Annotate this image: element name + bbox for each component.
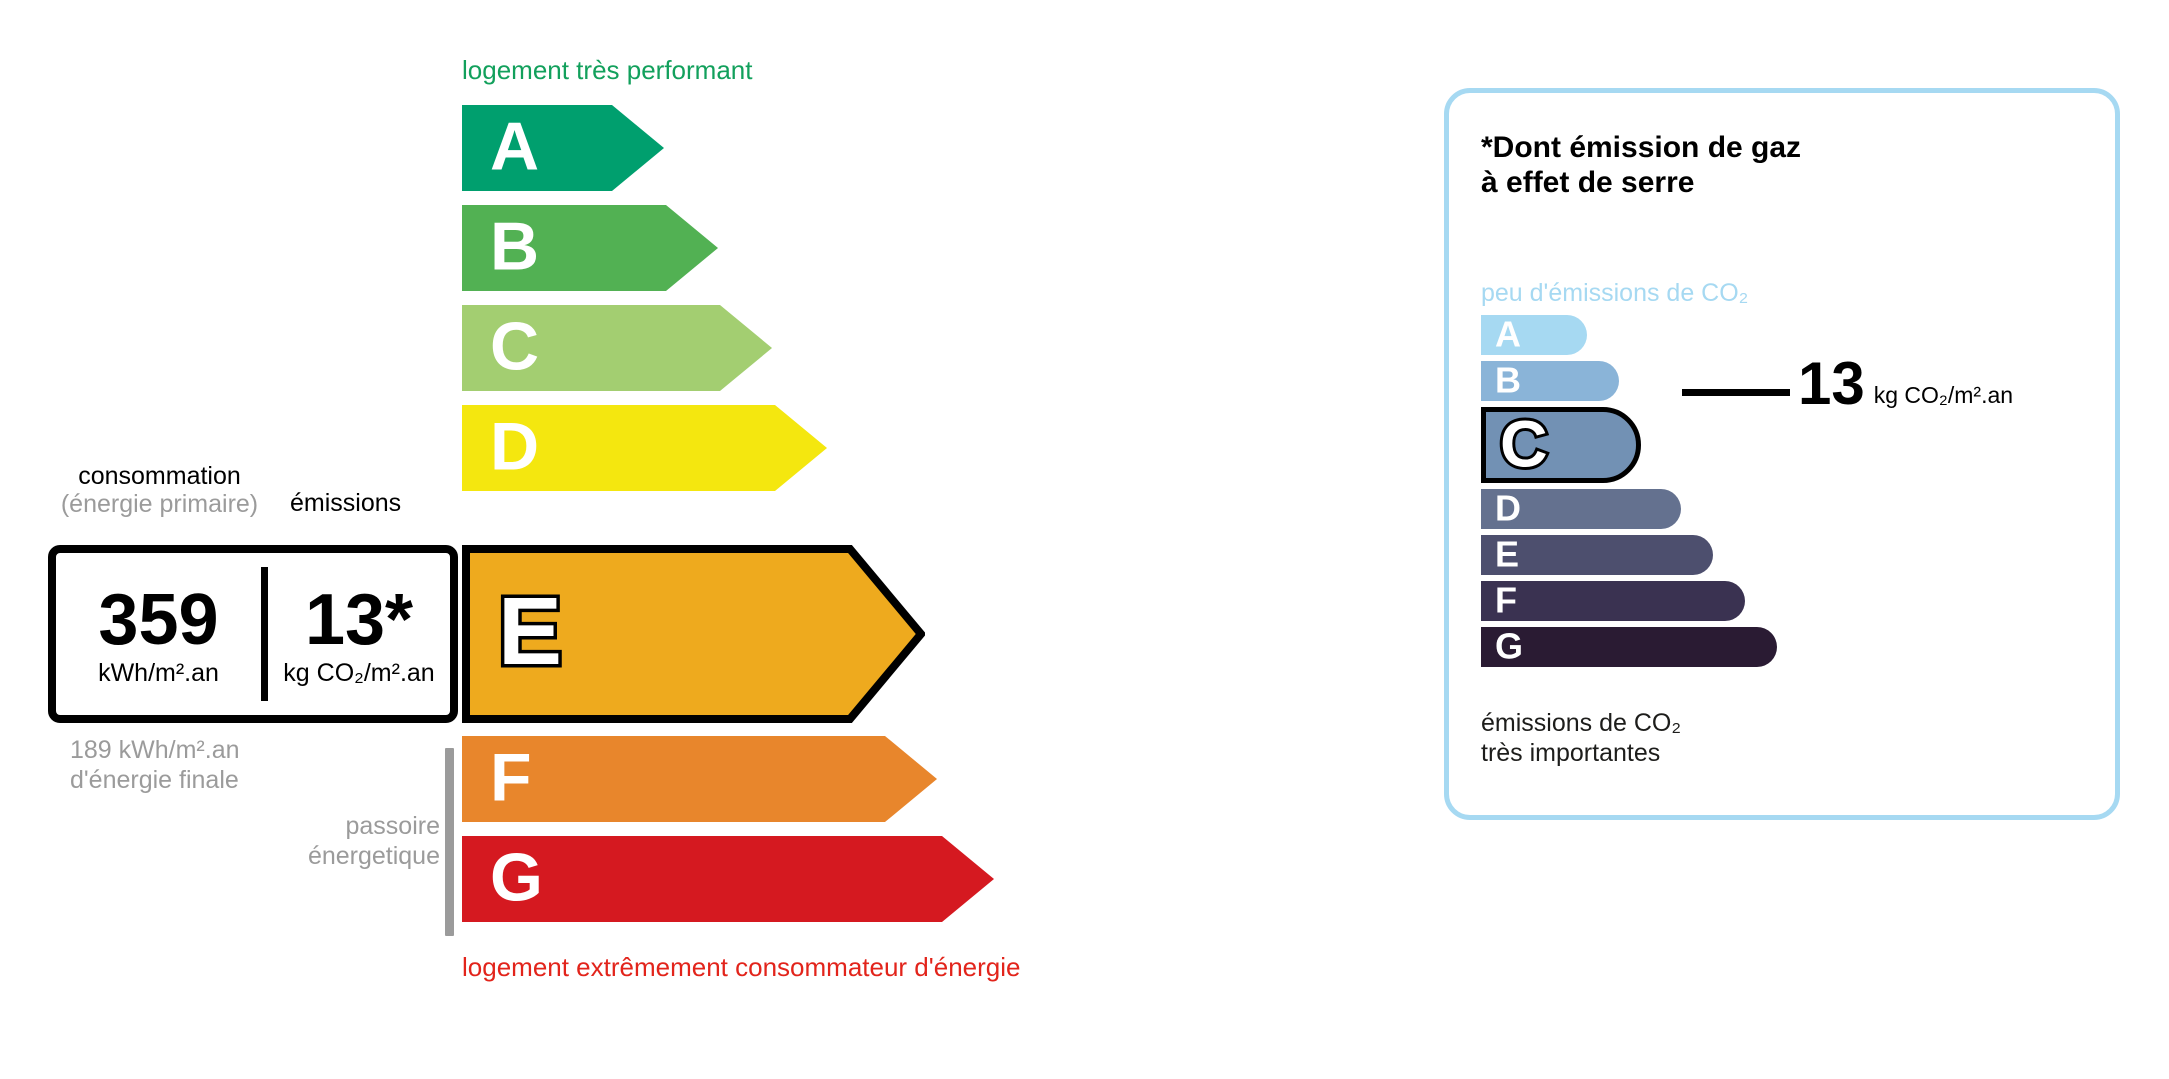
value-box-divider	[261, 567, 268, 701]
energy-performance-panel: logement très performant ABCDEFG logemen…	[0, 0, 1400, 1079]
energy-arrow-shape-d	[462, 405, 827, 491]
energy-arrow-shape-a	[462, 105, 664, 191]
co2-value: 13	[1798, 354, 1865, 414]
energy-class-d: D	[462, 405, 827, 491]
co2-class-b: B	[1481, 361, 1619, 401]
final-energy-note-line1: 189 kWh/m².an	[70, 736, 240, 766]
co2-class-letter-f: F	[1495, 582, 1517, 618]
co2-bar-shape-d: D	[1481, 489, 1681, 529]
co2-leader-line	[1682, 389, 1790, 396]
energy-class-f: F	[462, 736, 937, 822]
co2-class-a: A	[1481, 315, 1587, 355]
co2-class-letter-e: E	[1495, 536, 1519, 572]
passoire-bracket	[445, 748, 454, 936]
emissions-label: émissions	[290, 489, 401, 518]
co2-bottom-caption: émissions de CO₂ très importantes	[1481, 709, 1681, 768]
co2-title: *Dont émission de gaz à effet de serre	[1481, 131, 1801, 201]
energy-bottom-caption: logement extrêmement consommateur d'éner…	[462, 952, 1020, 983]
consumption-label-main: consommation	[78, 462, 241, 490]
co2-class-letter-d: D	[1495, 490, 1521, 526]
co2-bar-shape-b: B	[1481, 361, 1619, 401]
co2-class-letter-a: A	[1495, 316, 1521, 352]
passoire-label-line2: énergetique	[250, 842, 440, 872]
energy-arrow-shape-g	[462, 836, 994, 922]
co2-class-c: C	[1481, 407, 1641, 483]
passoire-label: passoire énergetique	[250, 812, 440, 871]
final-energy-note-line2: d'énergie finale	[70, 766, 240, 796]
co2-value-annotation: 13 kg CO₂/m².an	[1798, 354, 2013, 414]
energy-class-c: C	[462, 305, 772, 391]
energy-class-g: G	[462, 836, 994, 922]
co2-bottom-caption-line2: très importantes	[1481, 739, 1681, 769]
co2-panel: *Dont émission de gaz à effet de serre p…	[1444, 88, 2120, 820]
final-energy-note: 189 kWh/m².an d'énergie finale	[70, 736, 240, 795]
energy-class-b: B	[462, 205, 718, 291]
energy-arrow-shape-e	[462, 545, 925, 723]
co2-class-f: F	[1481, 581, 1745, 621]
co2-class-g: G	[1481, 627, 1777, 667]
co2-bar-shape-c: C	[1481, 407, 1641, 483]
energy-class-a: A	[462, 105, 664, 191]
co2-top-caption: peu d'émissions de CO₂	[1481, 279, 1748, 308]
co2-title-line2: à effet de serre	[1481, 166, 1801, 201]
co2-class-d: D	[1481, 489, 1681, 529]
consumption-value: 359	[98, 586, 218, 654]
co2-class-letter-b: B	[1495, 362, 1521, 398]
passoire-label-line1: passoire	[250, 812, 440, 842]
co2-title-line1: *Dont émission de gaz	[1481, 131, 1801, 166]
co2-bar-shape-a: A	[1481, 315, 1587, 355]
consumption-label-sub: (énergie primaire)	[52, 490, 267, 518]
emission-unit: kg CO₂/m².an	[283, 659, 434, 688]
co2-class-letter-g: G	[1495, 628, 1523, 664]
energy-arrow-shape-c	[462, 305, 772, 391]
co2-bar-shape-f: F	[1481, 581, 1745, 621]
consumption-unit: kWh/m².an	[98, 659, 219, 688]
energy-arrow-shape-f	[462, 736, 937, 822]
co2-class-letter-c: C	[1500, 411, 1548, 477]
co2-bar-shape-g: G	[1481, 627, 1777, 667]
dpe-label: logement très performant ABCDEFG logemen…	[0, 0, 2169, 1079]
energy-class-e: E	[462, 545, 925, 723]
co2-class-e: E	[1481, 535, 1713, 575]
energy-top-caption: logement très performant	[462, 55, 752, 86]
energy-arrow-shape-b	[462, 205, 718, 291]
emission-cell: 13* kg CO₂/m².an	[268, 553, 450, 715]
co2-bottom-caption-line1: émissions de CO₂	[1481, 709, 1681, 739]
emission-value: 13*	[305, 586, 413, 654]
value-box: 359 kWh/m².an 13* kg CO₂/m².an	[48, 545, 458, 723]
co2-bar-shape-e: E	[1481, 535, 1713, 575]
co2-value-unit: kg CO₂/m².an	[1874, 382, 2013, 414]
consumption-cell: 359 kWh/m².an	[56, 553, 261, 715]
consumption-label: consommation (énergie primaire)	[52, 462, 267, 518]
